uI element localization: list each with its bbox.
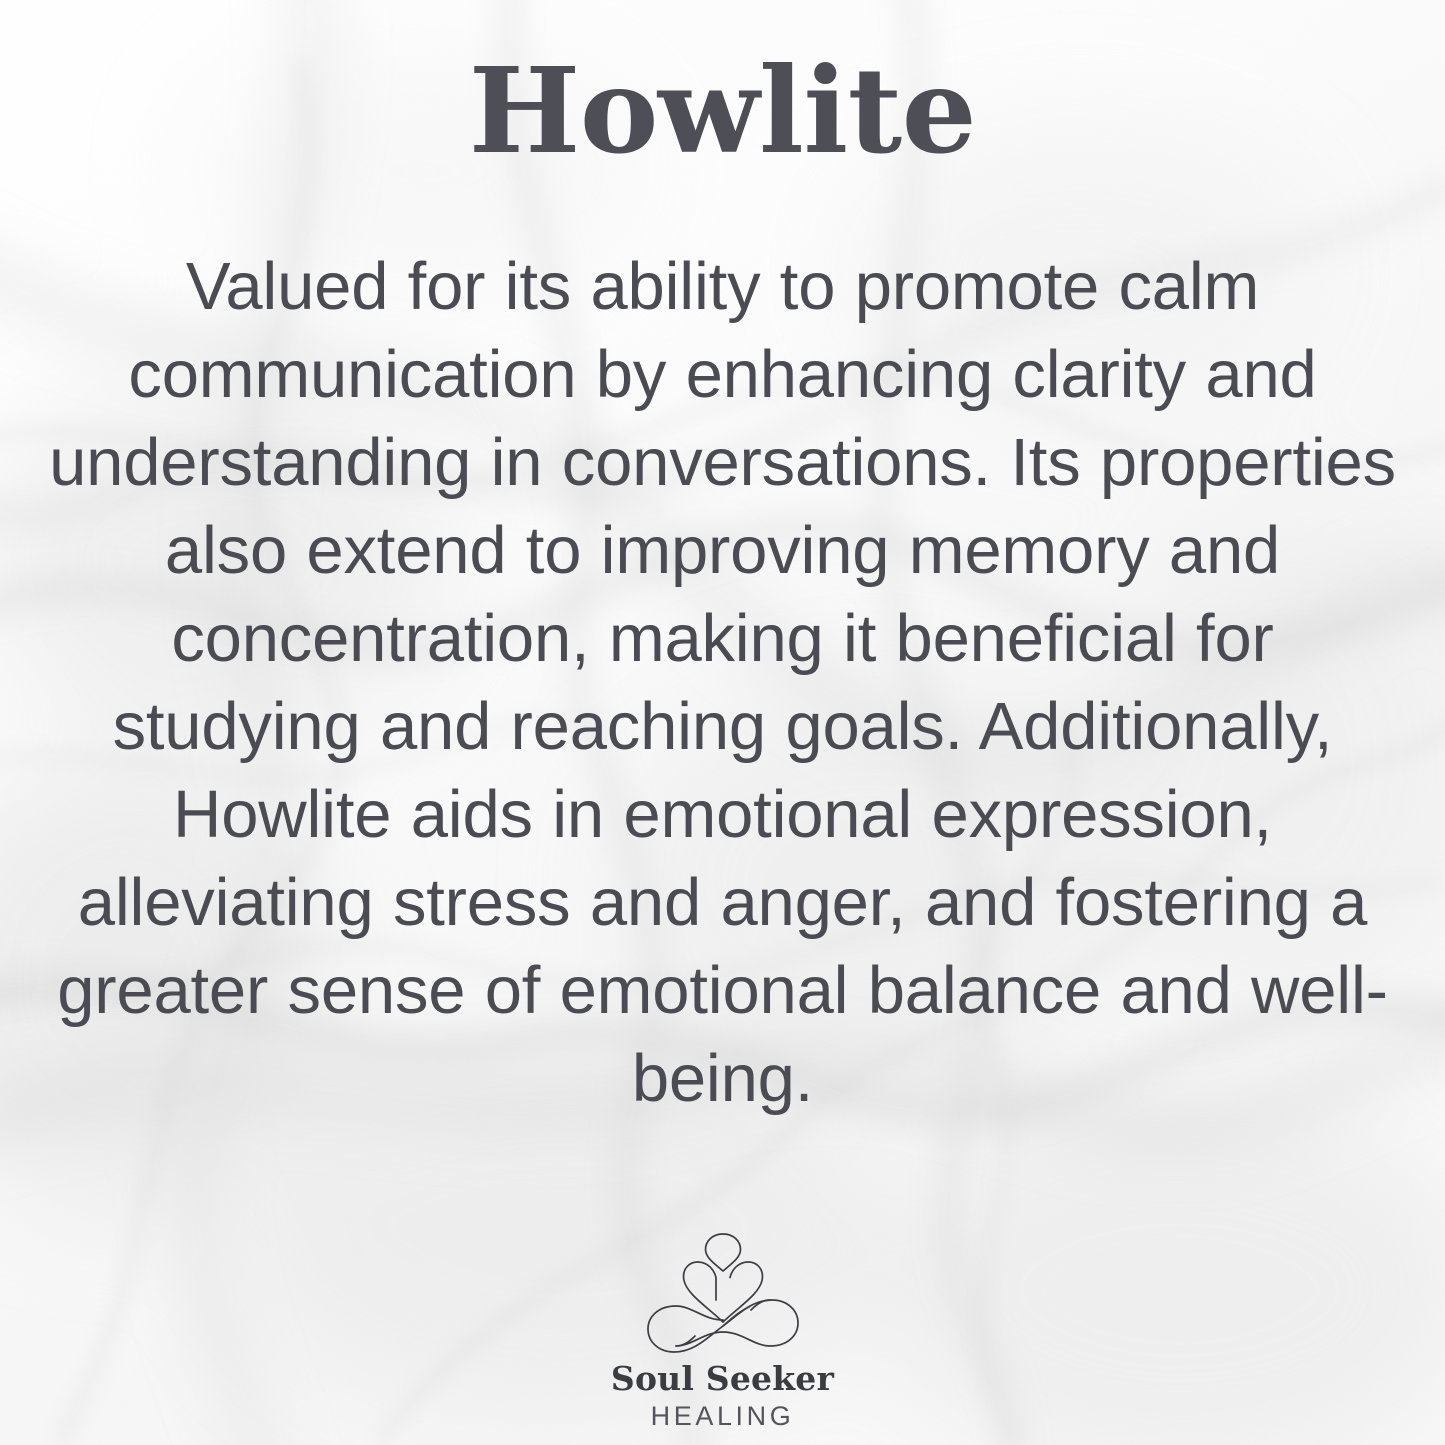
brand-logo: Soul Seeker HEALING <box>0 1228 1445 1430</box>
card-content: Howlite Valued for its ability to promot… <box>0 0 1445 1445</box>
brand-tagline: HEALING <box>651 1402 795 1430</box>
page-title: Howlite <box>0 52 1445 170</box>
howlite-info-card: Howlite Valued for its ability to promot… <box>0 0 1445 1445</box>
brand-name: Soul Seeker <box>611 1362 834 1397</box>
meditating-figure-heart-infinity-logo-icon <box>632 1228 814 1356</box>
crystal-description-text: Valued for its ability to promote calm c… <box>46 243 1399 1123</box>
